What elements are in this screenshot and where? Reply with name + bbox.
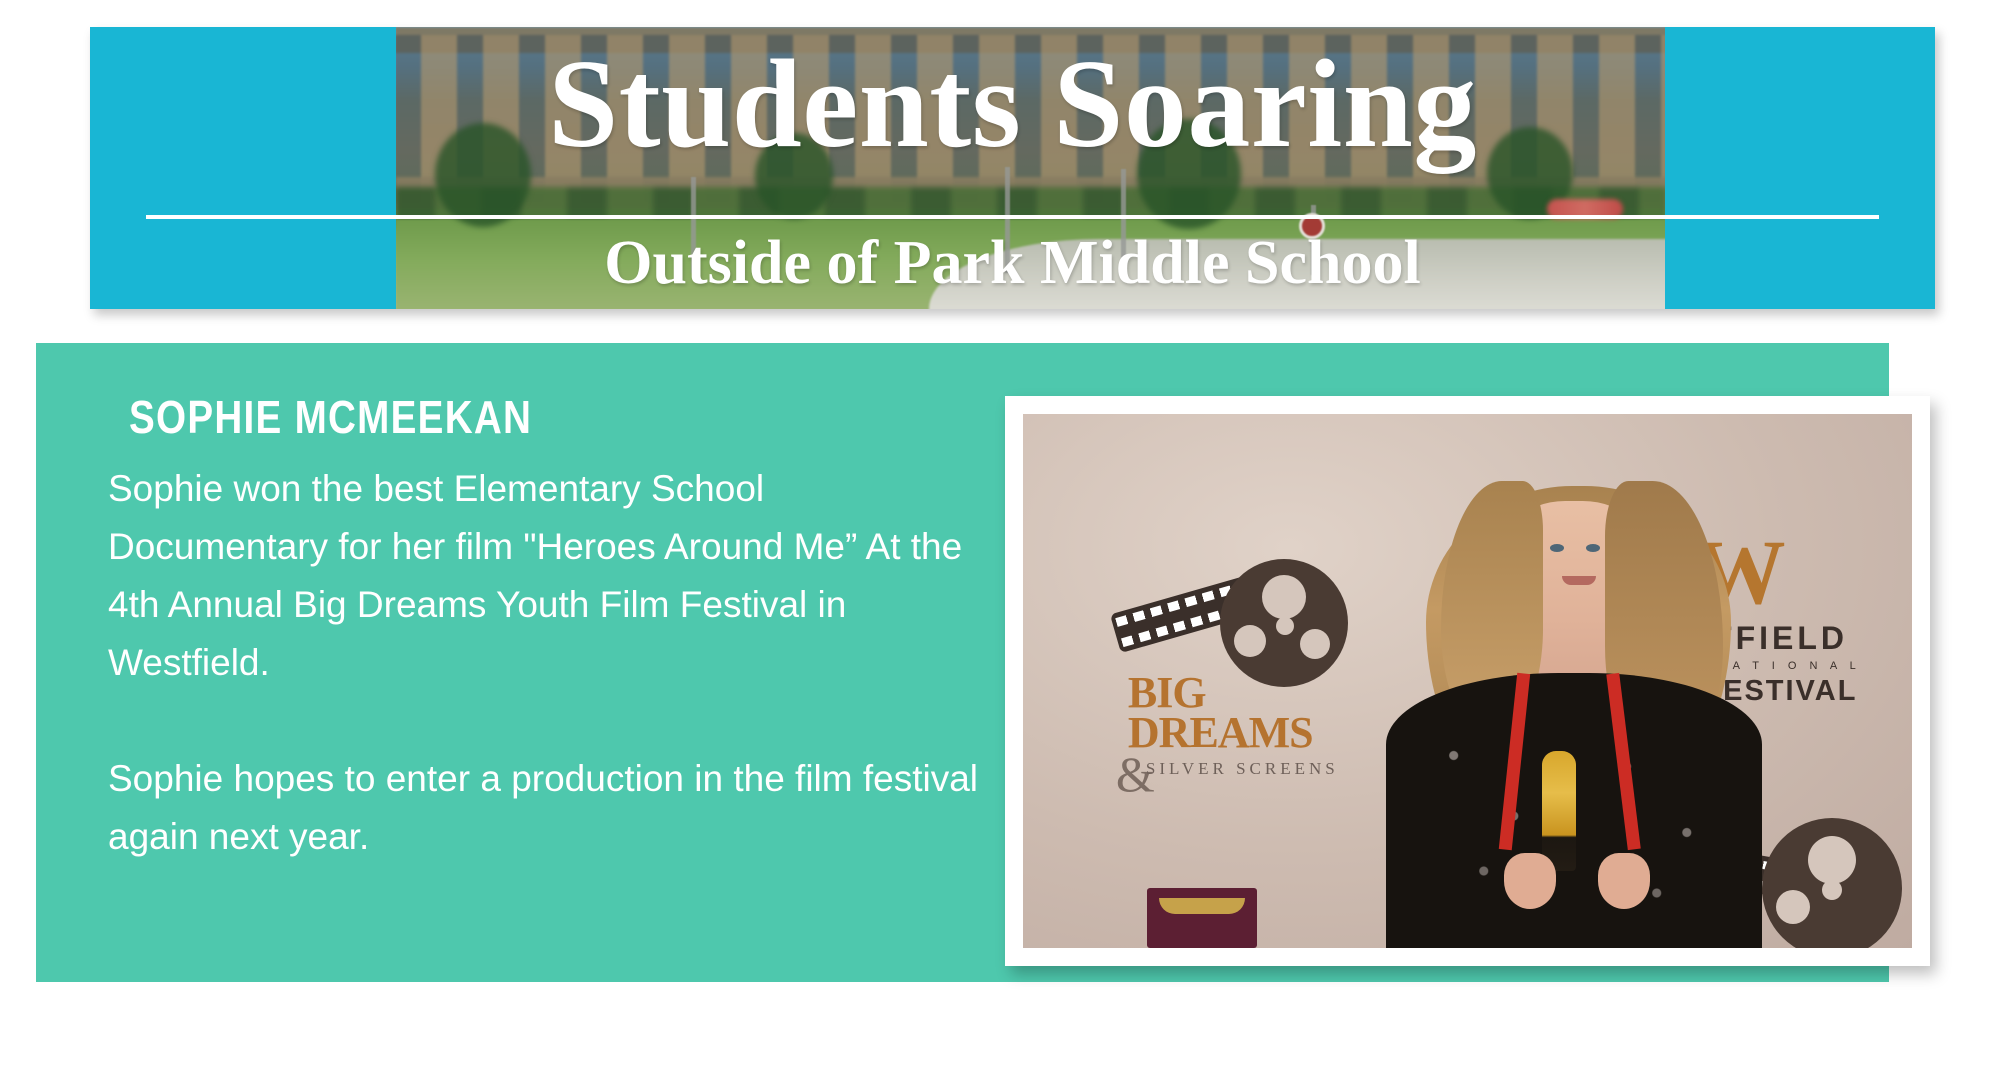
student-name-heading: SOPHIE MCMEEKAN [129,390,532,444]
banner-subtitle: Outside of Park Middle School [90,229,1935,297]
slide-root: Students Soaring Outside of Park Middle … [0,0,2000,1065]
description-paragraph-1: Sophie won the best Elementary School Do… [108,460,988,692]
trophy-icon [1542,751,1576,871]
reel-hub [1822,880,1842,900]
big-dreams-wordmark: BIG DREAMS [1128,673,1313,754]
film-reel-icon [1220,559,1348,687]
student-description: Sophie won the best Elementary School Do… [108,460,988,866]
reel-hole [1776,890,1810,924]
header-banner: Students Soaring Outside of Park Middle … [90,27,1935,309]
student-photo: BIG DREAMS & SILVER SCREENS W WESTFIELD … [1023,414,1912,948]
banner-divider-rule [146,215,1879,219]
description-paragraph-2: Sophie hopes to enter a production in th… [108,750,988,866]
reel-hole [1262,575,1306,619]
film-reel-circle-secondary [1762,818,1902,948]
eye-left [1550,544,1564,552]
reel-hole [1300,629,1330,659]
banner-title: Students Soaring [90,37,1935,173]
eye-right [1586,544,1600,552]
reel-hub [1276,617,1294,635]
big-dreams-line-1: BIG [1128,673,1313,713]
mouth [1562,576,1596,585]
student-figure [1379,457,1770,948]
big-dreams-line-2: DREAMS [1128,713,1313,753]
hand-right [1598,853,1650,909]
reel-hole [1234,625,1266,657]
hand-left [1504,853,1556,909]
silver-screens-tagline: SILVER SCREENS [1146,759,1339,779]
big-dreams-logo: BIG DREAMS & SILVER SCREENS [1112,553,1362,783]
reel-hole [1808,836,1856,884]
student-photo-card: BIG DREAMS & SILVER SCREENS W WESTFIELD … [1005,396,1930,966]
award-plaque [1147,888,1257,948]
